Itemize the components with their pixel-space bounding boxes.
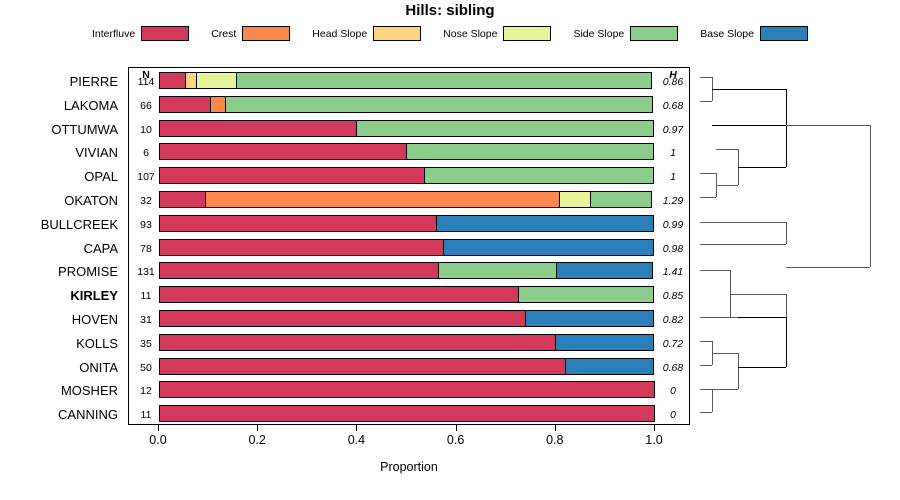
page-title: Hills: sibling bbox=[0, 2, 900, 19]
legend-swatch bbox=[630, 26, 678, 41]
category-label-kirley: KIRLEY bbox=[70, 289, 118, 302]
h-value: 0 bbox=[657, 409, 689, 421]
dendrogram bbox=[690, 67, 900, 425]
legend-label: Base Slope bbox=[700, 28, 754, 40]
n-value: 6 bbox=[129, 147, 163, 159]
h-value: 0.97 bbox=[657, 124, 689, 136]
n-value: 31 bbox=[129, 314, 163, 326]
n-value: 131 bbox=[129, 266, 163, 278]
dendrogram-branch bbox=[870, 125, 871, 267]
bar-segment-interfluve[interactable] bbox=[159, 120, 357, 137]
dendrogram-branch bbox=[700, 365, 712, 366]
legend-label: Crest bbox=[211, 28, 236, 40]
h-value: 0.72 bbox=[657, 338, 689, 350]
bars-container bbox=[129, 68, 691, 426]
dendrogram-branch bbox=[700, 270, 730, 271]
category-label-bullcreek: BULLCREEK bbox=[41, 218, 118, 231]
bar-segment-side-slope[interactable] bbox=[518, 286, 654, 303]
bar-segment-interfluve[interactable] bbox=[159, 239, 444, 256]
dendrogram-branch bbox=[786, 222, 787, 244]
n-column: N11466106107329378131113135501211 bbox=[129, 67, 163, 425]
h-value: 0.68 bbox=[657, 100, 689, 112]
bar-segment-interfluve[interactable] bbox=[159, 215, 437, 232]
dendrogram-branch bbox=[738, 353, 739, 389]
h-value: 0.86 bbox=[657, 76, 689, 88]
bar-row[interactable] bbox=[159, 334, 655, 351]
dendrogram-branch bbox=[712, 389, 738, 390]
bar-segment-side-slope[interactable] bbox=[225, 96, 653, 113]
category-label-capa: CAPA bbox=[84, 242, 118, 255]
legend-swatch bbox=[503, 26, 551, 41]
bar-segment-interfluve[interactable] bbox=[159, 143, 407, 160]
legend-swatch bbox=[242, 26, 290, 41]
bar-segment-interfluve[interactable] bbox=[159, 381, 655, 398]
legend-item-base-slope[interactable]: Base Slope bbox=[700, 26, 808, 41]
x-tick bbox=[456, 425, 457, 431]
legend: InterfluveCrestHead SlopeNose SlopeSide … bbox=[0, 26, 900, 41]
bar-segment-interfluve[interactable] bbox=[159, 334, 556, 351]
x-tick-label: 0.2 bbox=[237, 433, 277, 447]
bar-segment-side-slope[interactable] bbox=[424, 167, 654, 184]
category-label-okaton: OKATON bbox=[64, 194, 118, 207]
bar-row[interactable] bbox=[159, 262, 655, 279]
x-tick bbox=[654, 425, 655, 431]
n-value: 11 bbox=[129, 290, 163, 302]
bar-row[interactable] bbox=[159, 381, 655, 398]
category-label-lakoma: LAKOMA bbox=[64, 99, 118, 112]
x-axis: 0.00.20.40.60.81.0 bbox=[128, 425, 690, 465]
dendrogram-branch bbox=[700, 77, 712, 78]
legend-swatch bbox=[373, 26, 421, 41]
x-tick bbox=[158, 425, 159, 431]
bar-segment-interfluve[interactable] bbox=[159, 96, 211, 113]
n-value: 107 bbox=[129, 171, 163, 183]
dendrogram-branch bbox=[786, 89, 787, 125]
bar-segment-base-slope[interactable] bbox=[555, 334, 654, 351]
category-label-ottumwa: OTTUMWA bbox=[51, 123, 118, 136]
h-value: 0 bbox=[657, 385, 689, 397]
dendrogram-branch bbox=[738, 167, 786, 168]
category-label-kolls: KOLLS bbox=[76, 337, 118, 350]
bar-segment-nose-slope[interactable] bbox=[559, 191, 591, 208]
dendrogram-branch bbox=[700, 222, 786, 223]
dendrogram-branch bbox=[786, 294, 787, 317]
bar-row[interactable] bbox=[159, 143, 655, 160]
chart-root: Hills: sibling InterfluveCrestHead Slope… bbox=[0, 0, 900, 500]
n-value: 114 bbox=[129, 76, 163, 88]
bar-segment-interfluve[interactable] bbox=[159, 358, 566, 375]
dendrogram-branch bbox=[786, 267, 870, 268]
bar-segment-base-slope[interactable] bbox=[443, 239, 654, 256]
dendrogram-branch bbox=[712, 389, 713, 412]
legend-item-head-slope[interactable]: Head Slope bbox=[312, 26, 443, 41]
bar-row[interactable] bbox=[159, 405, 655, 422]
x-tick-label: 1.0 bbox=[634, 433, 674, 447]
bar-segment-nose-slope[interactable] bbox=[196, 72, 237, 89]
h-value: 1 bbox=[657, 171, 689, 183]
category-label-promise: PROMISE bbox=[58, 265, 118, 278]
x-tick-label: 0.6 bbox=[436, 433, 476, 447]
dendrogram-branch bbox=[700, 412, 712, 413]
x-tick-label: 0.4 bbox=[336, 433, 376, 447]
bar-segment-interfluve[interactable] bbox=[159, 405, 655, 422]
n-value: 10 bbox=[129, 124, 163, 136]
dendrogram-branch bbox=[716, 185, 738, 186]
bar-segment-side-slope[interactable] bbox=[438, 262, 557, 279]
x-tick-label: 0.8 bbox=[535, 433, 575, 447]
bar-row[interactable] bbox=[159, 215, 655, 232]
plot-area bbox=[128, 67, 690, 425]
x-axis-title: Proportion bbox=[128, 460, 690, 474]
legend-item-nose-slope[interactable]: Nose Slope bbox=[443, 26, 573, 41]
dendrogram-branch bbox=[730, 294, 786, 295]
category-label-onita: ONITA bbox=[79, 361, 118, 374]
dendrogram-branch bbox=[786, 125, 787, 167]
bar-row[interactable] bbox=[159, 167, 655, 184]
legend-item-side-slope[interactable]: Side Slope bbox=[573, 26, 700, 41]
h-value: 0.85 bbox=[657, 290, 689, 302]
category-label-canning: CANNING bbox=[58, 408, 118, 421]
h-column: H0.860.680.97111.290.990.981.410.850.820… bbox=[657, 67, 689, 425]
dendrogram-branch bbox=[700, 173, 716, 174]
dendrogram-branch bbox=[738, 367, 786, 368]
bar-segment-base-slope[interactable] bbox=[556, 262, 653, 279]
bar-row[interactable] bbox=[159, 310, 655, 327]
dendrogram-branch bbox=[700, 197, 716, 198]
bar-row[interactable] bbox=[159, 72, 655, 89]
legend-label: Head Slope bbox=[312, 28, 367, 40]
dendrogram-branch bbox=[786, 317, 787, 367]
bar-segment-interfluve[interactable] bbox=[159, 286, 519, 303]
dendrogram-branch bbox=[700, 389, 712, 390]
bar-segment-interfluve[interactable] bbox=[159, 262, 439, 279]
x-tick bbox=[356, 425, 357, 431]
category-labels: PIERRELAKOMAOTTUMWAVIVIANOPALOKATONBULLC… bbox=[0, 67, 124, 425]
bar-segment-interfluve[interactable] bbox=[159, 310, 526, 327]
legend-label: Side Slope bbox=[573, 28, 624, 40]
bar-segment-interfluve[interactable] bbox=[159, 191, 206, 208]
n-value: 66 bbox=[129, 100, 163, 112]
h-value: 1 bbox=[657, 147, 689, 159]
dendrogram-branch bbox=[700, 101, 712, 102]
legend-item-interfluve[interactable]: Interfluve bbox=[92, 26, 211, 41]
category-label-pierre: PIERRE bbox=[70, 75, 118, 88]
legend-item-crest[interactable]: Crest bbox=[211, 26, 312, 41]
legend-label: Nose Slope bbox=[443, 28, 497, 40]
n-value: 35 bbox=[129, 338, 163, 350]
h-value: 0.82 bbox=[657, 314, 689, 326]
n-value: 93 bbox=[129, 219, 163, 231]
h-value: 1.41 bbox=[657, 266, 689, 278]
dendrogram-branch bbox=[716, 149, 738, 150]
bar-segment-base-slope[interactable] bbox=[565, 358, 654, 375]
h-value: 0.68 bbox=[657, 362, 689, 374]
bar-row[interactable] bbox=[159, 96, 655, 113]
bar-segment-side-slope[interactable] bbox=[356, 120, 654, 137]
n-value: 12 bbox=[129, 385, 163, 397]
bar-segment-side-slope[interactable] bbox=[236, 72, 652, 89]
n-value: 11 bbox=[129, 409, 163, 421]
h-value: 0.98 bbox=[657, 243, 689, 255]
h-value: 0.99 bbox=[657, 219, 689, 231]
dendrogram-branch bbox=[700, 244, 786, 245]
bar-row[interactable] bbox=[159, 239, 655, 256]
n-value: 78 bbox=[129, 243, 163, 255]
category-label-hoven: HOVEN bbox=[72, 313, 118, 326]
dendrogram-branch bbox=[738, 317, 786, 318]
x-tick bbox=[555, 425, 556, 431]
bar-segment-crest[interactable] bbox=[205, 191, 560, 208]
dendrogram-branch bbox=[712, 353, 738, 354]
bar-row[interactable] bbox=[159, 191, 655, 208]
bar-segment-interfluve[interactable] bbox=[159, 72, 186, 89]
dendrogram-branch bbox=[712, 89, 786, 90]
bar-segment-crest[interactable] bbox=[210, 96, 226, 113]
category-label-vivian: VIVIAN bbox=[75, 146, 118, 159]
n-value: 50 bbox=[129, 362, 163, 374]
legend-label: Interfluve bbox=[92, 28, 135, 40]
bar-segment-side-slope[interactable] bbox=[590, 191, 652, 208]
bar-segment-base-slope[interactable] bbox=[525, 310, 654, 327]
bar-row[interactable] bbox=[159, 358, 655, 375]
h-value: 1.29 bbox=[657, 195, 689, 207]
dendrogram-branch bbox=[700, 317, 730, 318]
dendrogram-branch bbox=[700, 341, 712, 342]
bar-segment-interfluve[interactable] bbox=[159, 167, 425, 184]
x-tick bbox=[257, 425, 258, 431]
category-label-mosher: MOSHER bbox=[61, 384, 118, 397]
legend-swatch bbox=[141, 26, 189, 41]
x-tick-label: 0.0 bbox=[138, 433, 178, 447]
legend-swatch bbox=[760, 26, 808, 41]
dendrogram-branch bbox=[738, 125, 786, 126]
n-value: 32 bbox=[129, 195, 163, 207]
category-label-opal: OPAL bbox=[84, 170, 118, 183]
bar-row[interactable] bbox=[159, 286, 655, 303]
bar-row[interactable] bbox=[159, 120, 655, 137]
bar-segment-side-slope[interactable] bbox=[406, 143, 654, 160]
dendrogram-branch bbox=[786, 125, 870, 126]
bar-segment-base-slope[interactable] bbox=[436, 215, 654, 232]
